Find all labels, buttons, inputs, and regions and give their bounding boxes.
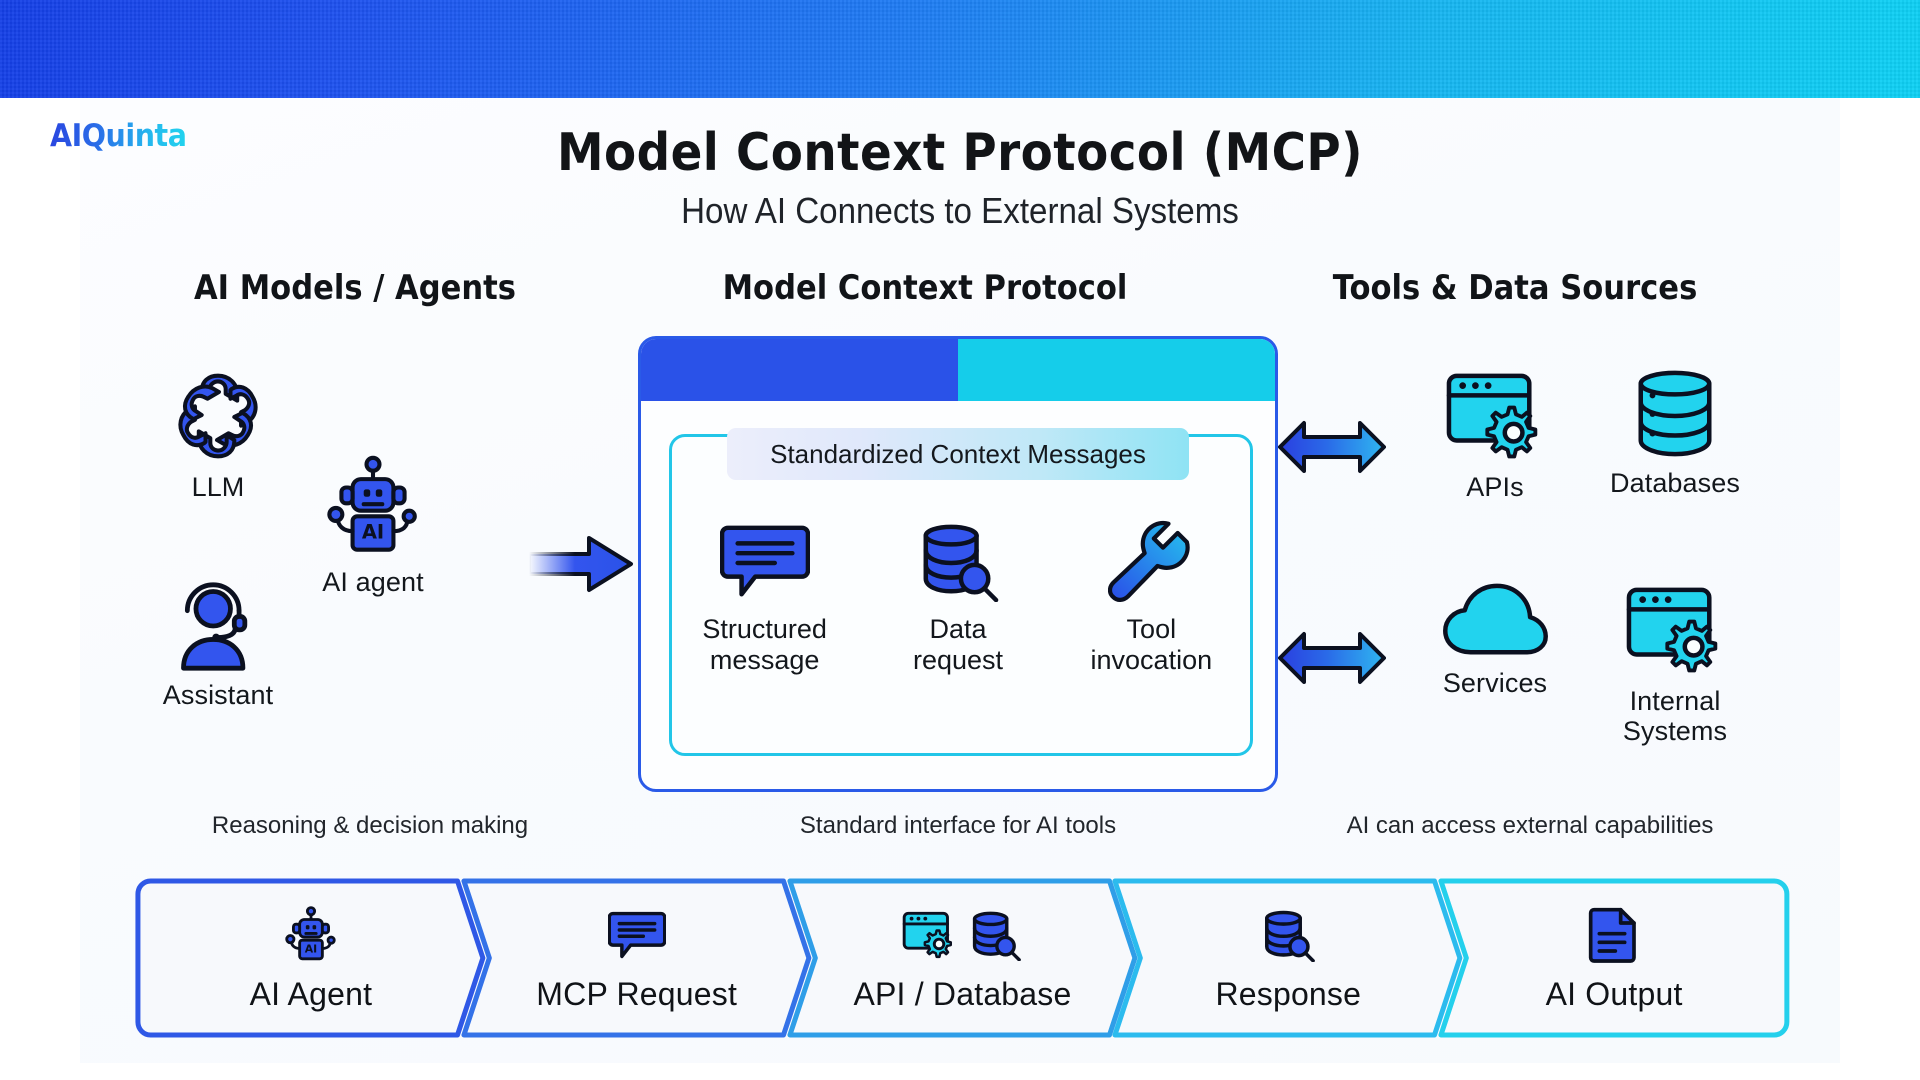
mcp-item-data-request: Data request	[861, 520, 1054, 676]
mcp-item-label-line2: request	[861, 645, 1054, 676]
flow-step-label: API / Database	[853, 976, 1071, 1013]
node-label-2: Systems	[1570, 716, 1780, 746]
node-label: Internal	[1570, 686, 1780, 716]
node-apis: APIs	[1395, 368, 1595, 502]
node-ai-agent: AI AI agent	[278, 455, 468, 597]
flow-step-ai-output[interactable]: AI Output	[1438, 878, 1790, 1038]
chat-message-icon	[668, 520, 861, 602]
robot-icon: AI	[280, 905, 342, 965]
flow-step-api-database[interactable]: API / Database	[787, 878, 1139, 1038]
flow-step-response[interactable]: Response	[1112, 878, 1464, 1038]
mcp-item-label-line2: message	[668, 645, 861, 676]
flow-step-icons	[1546, 904, 1683, 966]
page-title: Model Context Protocol (MCP)	[96, 123, 1824, 183]
flow-step-label: AI Agent	[250, 976, 373, 1013]
mcp-panel-header-bar	[641, 339, 1275, 401]
mcp-item-tool-invocation: Tool invocation	[1055, 520, 1248, 676]
node-label: Databases	[1570, 468, 1780, 498]
infographic-page: AIQuinta Model Context Protocol (MCP) Ho…	[0, 0, 1920, 1080]
database-search-icon	[1259, 908, 1317, 962]
flow-arrow-right-icon	[527, 532, 635, 596]
chip-label: Standardized Context Messages	[770, 439, 1146, 470]
flow-step-icons	[853, 904, 1071, 966]
mcp-item-list: Structured message Data	[668, 520, 1248, 676]
chat-message-icon	[608, 908, 666, 962]
flow-step-label: Response	[1215, 976, 1361, 1013]
bidirectional-arrow-bottom-icon	[1278, 627, 1386, 689]
node-label: APIs	[1395, 472, 1595, 502]
bidirectional-arrow-top-icon	[1278, 416, 1386, 478]
node-databases: Databases	[1570, 368, 1780, 498]
flow-step-icons	[1215, 904, 1361, 966]
caption-center: Standard interface for AI tools	[668, 812, 1248, 840]
column-heading-center: Model Context Protocol	[646, 268, 1204, 308]
browser-gear-icon	[1395, 368, 1595, 464]
standardized-context-chip: Standardized Context Messages	[727, 428, 1189, 480]
database-icon	[1570, 368, 1780, 460]
page-subtitle: How AI Connects to External Systems	[77, 190, 1843, 232]
mcp-item-label-line1: Data	[861, 614, 1054, 645]
svg-text:AI: AI	[305, 942, 317, 955]
wrench-icon	[1055, 520, 1248, 602]
node-services: Services	[1395, 582, 1595, 698]
browser-gear-icon	[1570, 582, 1780, 678]
database-search-icon	[861, 520, 1054, 602]
robot-icon: AI	[278, 455, 468, 559]
flow-step-icons	[536, 904, 737, 966]
node-internal-systems: Internal Systems	[1570, 582, 1780, 746]
caption-right: AI can access external capabilities	[1250, 812, 1810, 840]
node-assistant: Assistant	[128, 580, 308, 710]
node-label: Assistant	[128, 680, 308, 710]
node-label: Services	[1395, 668, 1595, 698]
openai-knot-icon	[128, 368, 308, 464]
flow-step-label: MCP Request	[536, 976, 737, 1013]
svg-text:AI: AI	[362, 521, 384, 544]
top-gradient-band	[0, 0, 1920, 98]
column-heading-right: Tools & Data Sources	[1263, 268, 1767, 308]
document-icon	[1588, 907, 1640, 963]
column-heading-left: AI Models / Agents	[121, 268, 589, 308]
flow-step-ai-agent[interactable]: AI AI Agent	[135, 878, 487, 1038]
database-search-icon	[967, 909, 1023, 961]
mcp-item-structured-message: Structured message	[668, 520, 861, 676]
flow-bar: AI AI Agent	[135, 878, 1790, 1038]
browser-gear-icon	[901, 909, 957, 961]
mcp-item-label-line1: Structured	[668, 614, 861, 645]
headset-person-icon	[128, 580, 308, 672]
cloud-icon	[1395, 582, 1595, 660]
mcp-item-label-line1: Tool	[1055, 614, 1248, 645]
flow-step-label: AI Output	[1546, 976, 1683, 1013]
flow-step-icons: AI	[250, 904, 373, 966]
caption-left: Reasoning & decision making	[60, 812, 680, 840]
flow-step-mcp-request[interactable]: MCP Request	[461, 878, 813, 1038]
mcp-item-label-line2: invocation	[1055, 645, 1248, 676]
